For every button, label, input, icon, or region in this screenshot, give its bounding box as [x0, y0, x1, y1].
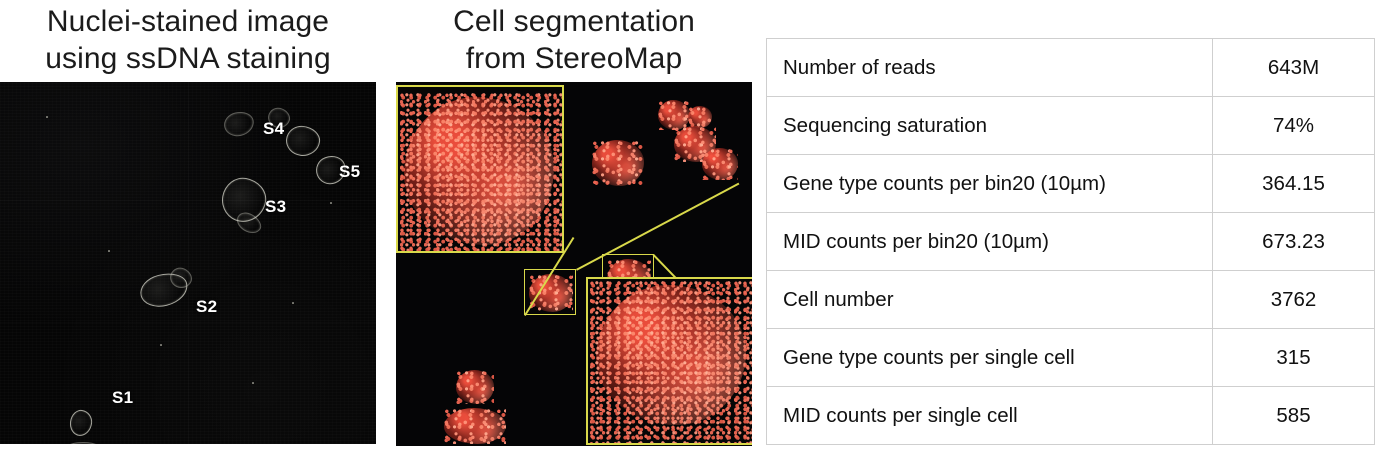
metric-value: 643M	[1213, 39, 1375, 97]
metric-value: 364.15	[1213, 155, 1375, 213]
nuclei-stained-image: S1 S2 S3 S4 S5	[0, 82, 376, 444]
speck	[46, 116, 48, 118]
speck	[160, 344, 162, 346]
segmentation-panel-title: Cell segmentation from StereoMap	[396, 3, 752, 77]
metric-label: Gene type counts per single cell	[767, 329, 1213, 387]
tile-seam	[188, 82, 189, 444]
table-row: MID counts per single cell 585	[767, 387, 1375, 445]
nucleus-cluster	[68, 409, 93, 438]
metrics-table: Number of reads 643M Sequencing saturati…	[766, 38, 1375, 445]
section-label-s3: S3	[265, 197, 286, 217]
table-row: Number of reads 643M	[767, 39, 1375, 97]
section-label-s5: S5	[339, 162, 360, 182]
metric-value: 3762	[1213, 271, 1375, 329]
speck	[108, 250, 110, 252]
zoom-inset-upper-left	[396, 85, 564, 253]
section-label-s4: S4	[263, 119, 284, 139]
segmented-cell-dots	[529, 274, 573, 312]
metric-label: Gene type counts per bin20 (10µm)	[767, 155, 1213, 213]
metric-value: 585	[1213, 387, 1375, 445]
speck	[252, 382, 254, 384]
metrics-table-body: Number of reads 643M Sequencing saturati…	[767, 39, 1375, 445]
nucleus-cluster	[285, 124, 322, 157]
segmented-cell-dots	[702, 148, 738, 180]
section-label-s2: S2	[196, 297, 217, 317]
table-row: Gene type counts per bin20 (10µm) 364.15	[767, 155, 1375, 213]
speck	[292, 302, 294, 304]
table-row: MID counts per bin20 (10µm) 673.23	[767, 213, 1375, 271]
zoom-inset-bottom-right	[586, 277, 752, 445]
metric-label: Sequencing saturation	[767, 97, 1213, 155]
table-row: Gene type counts per single cell 315	[767, 329, 1375, 387]
segmented-cell-dots	[456, 370, 494, 404]
table-row: Cell number 3762	[767, 271, 1375, 329]
speck	[330, 202, 332, 204]
segmented-cell-zoomed-dots	[590, 281, 752, 443]
table-row: Sequencing saturation 74%	[767, 97, 1375, 155]
metric-value: 315	[1213, 329, 1375, 387]
metric-label: MID counts per bin20 (10µm)	[767, 213, 1213, 271]
section-label-s1: S1	[112, 388, 133, 408]
metric-value: 74%	[1213, 97, 1375, 155]
segmented-cell-dots	[688, 106, 712, 128]
nuclei-panel-title: Nuclei-stained image using ssDNA stainin…	[0, 3, 376, 77]
segmented-cell-zoomed-dots	[400, 93, 562, 251]
metric-label: MID counts per single cell	[767, 387, 1213, 445]
metric-label: Number of reads	[767, 39, 1213, 97]
metric-value: 673.23	[1213, 213, 1375, 271]
segmented-cell-dots	[444, 408, 506, 444]
figure-root: Nuclei-stained image using ssDNA stainin…	[0, 0, 1393, 471]
metric-label: Cell number	[767, 271, 1213, 329]
nucleus-cluster	[222, 109, 256, 139]
segmented-cell-dots	[592, 140, 644, 186]
cell-segmentation-image	[396, 82, 752, 446]
nucleus-cluster	[57, 440, 105, 444]
